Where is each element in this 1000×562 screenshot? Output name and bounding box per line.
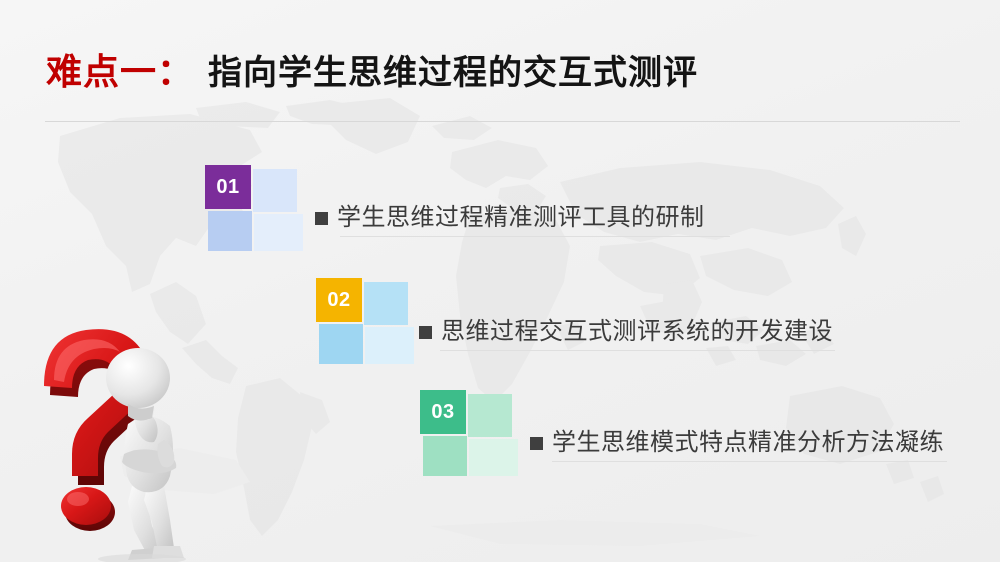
list-item-text-02: 思维过程交互式测评系统的开发建设 [441, 320, 833, 344]
number-tile-02: 02 [316, 278, 362, 322]
number-block-01[interactable]: 01 [205, 165, 303, 247]
tile-top-right-02 [364, 282, 408, 325]
tile-bottom-left-02 [319, 324, 363, 364]
underline-03 [552, 461, 947, 462]
page-title: 难点一： 指向学生思维过程的交互式测评 [46, 54, 698, 90]
title-keyword: 难点一： [46, 54, 194, 90]
question-mark-figure-illustration [24, 318, 220, 562]
underline-02 [440, 350, 835, 351]
number-block-02[interactable]: 02 [316, 278, 414, 360]
tile-bottom-right-03 [469, 439, 518, 476]
number-label-02: 02 [327, 290, 350, 310]
list-item-02[interactable]: 思维过程交互式测评系统的开发建设 [419, 320, 833, 344]
slide-canvas: 难点一： 指向学生思维过程的交互式测评 01 学生思维过程精准测评工具的研制 0… [0, 0, 1000, 562]
list-item-text-03: 学生思维模式特点精准分析方法凝练 [552, 431, 944, 455]
tile-bottom-right-02 [365, 327, 414, 364]
tile-top-right-03 [468, 394, 512, 437]
bullet-square-icon [419, 326, 432, 339]
bullet-square-icon [315, 212, 328, 225]
number-label-01: 01 [216, 177, 239, 197]
number-tile-03: 03 [420, 390, 466, 434]
tile-top-right-01 [253, 169, 297, 212]
underline-01 [340, 236, 730, 237]
tile-bottom-right-01 [254, 214, 303, 251]
bullet-square-icon [530, 437, 543, 450]
list-item-text-01: 学生思维过程精准测评工具的研制 [337, 206, 705, 230]
title-divider [45, 121, 960, 122]
tile-bottom-left-03 [423, 436, 467, 476]
list-item-03[interactable]: 学生思维模式特点精准分析方法凝练 [530, 431, 944, 455]
number-tile-01: 01 [205, 165, 251, 209]
tile-bottom-left-01 [208, 211, 252, 251]
number-block-03[interactable]: 03 [420, 390, 518, 472]
title-main-text: 指向学生思维过程的交互式测评 [208, 56, 698, 90]
number-label-03: 03 [431, 402, 454, 422]
list-item-01[interactable]: 学生思维过程精准测评工具的研制 [315, 206, 705, 230]
